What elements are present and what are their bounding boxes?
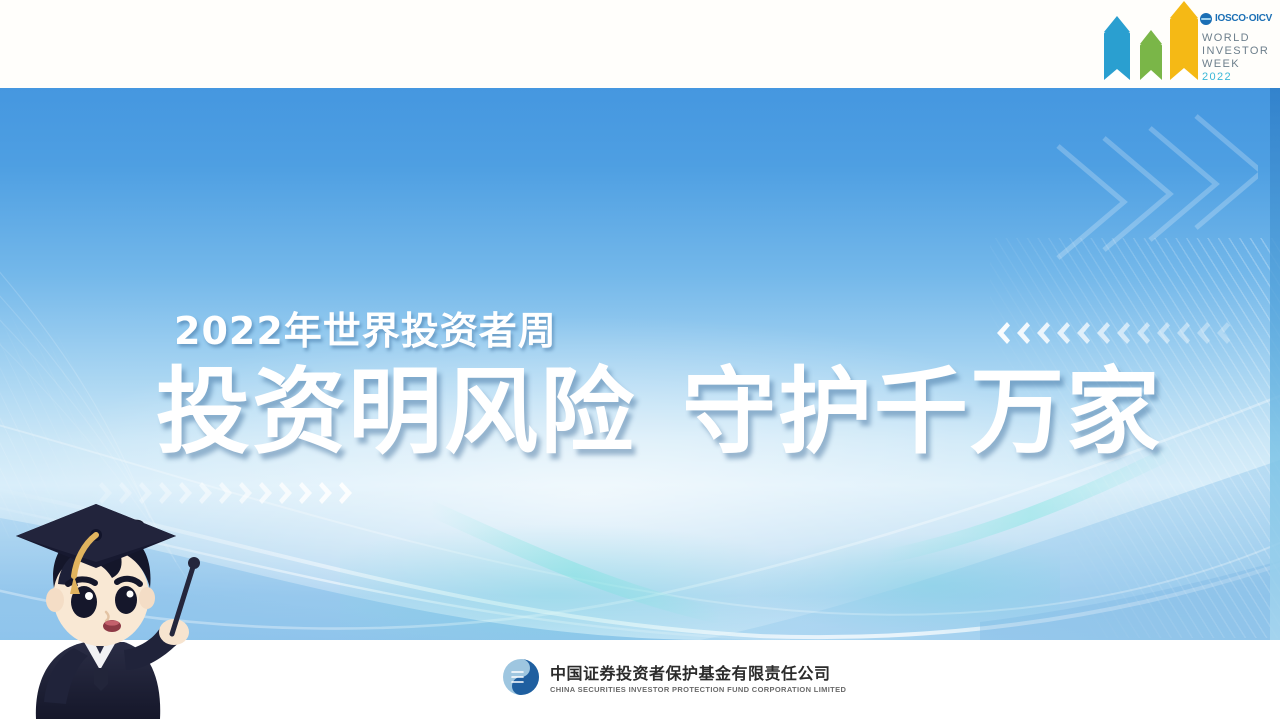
headline-part-2: 守护千万家	[682, 358, 1162, 467]
pencil-chevron-blue-icon	[1104, 69, 1130, 80]
banner-headline: 投资明风险守护千万家	[156, 364, 1162, 463]
sipf-emblem-icon	[501, 657, 541, 697]
world-investor-week-logo: IOSCO·OICV WORLD INVESTOR WEEK 2022	[1098, 4, 1268, 86]
chevron-left-icon	[1174, 320, 1191, 346]
chevron-left-icon	[1014, 320, 1031, 346]
globe-icon	[1200, 13, 1212, 25]
ghost-chevron-decoration	[1028, 98, 1258, 288]
right-edge-accent	[1270, 88, 1280, 640]
org-name-english: CHINA SECURITIES INVESTOR PROTECTION FUN…	[550, 685, 846, 694]
chevron-left-icon	[1094, 320, 1111, 346]
chevron-left-icon	[1194, 320, 1211, 346]
banner-subtitle: 2022年世界投资者周	[174, 300, 557, 355]
pencil-tip-yellow-icon	[1170, 1, 1198, 18]
chevron-left-icon	[1034, 320, 1051, 346]
pencil-chevron-yellow-icon	[1170, 68, 1198, 80]
chevron-left-icon	[1054, 320, 1071, 346]
chevron-right-icon	[218, 480, 235, 506]
wiw-wordmark: WORLD INVESTOR WEEK 2022	[1202, 32, 1269, 84]
chevron-left-icon	[1214, 320, 1231, 346]
chevron-left-icon	[994, 320, 1011, 346]
wiw-line-investor: INVESTOR	[1202, 45, 1269, 58]
chevron-left-icon	[1114, 320, 1131, 346]
wiw-year: 2022	[1202, 71, 1232, 83]
chevron-right-icon	[258, 480, 275, 506]
chevron-right-icon	[278, 480, 295, 506]
chevron-right-icon	[298, 480, 315, 506]
chevron-right-icon	[318, 480, 335, 506]
sipf-wordmark: 中国证券投资者保护基金有限责任公司 CHINA SECURITIES INVES…	[550, 660, 846, 694]
top-bar: IOSCO·OICV WORLD INVESTOR WEEK 2022	[0, 0, 1280, 88]
pencil-chevron-green-icon	[1140, 70, 1162, 80]
chevron-left-icon	[1134, 320, 1151, 346]
headline-part-1: 投资明风险	[156, 358, 636, 467]
chevron-right-icon	[238, 480, 255, 506]
wiw-line-week: WEEK 2022	[1202, 58, 1269, 84]
chevron-row-left-pointing	[994, 320, 1231, 346]
teal-accent-glow	[340, 518, 1060, 640]
pencil-tip-green-icon	[1140, 30, 1162, 44]
chevron-left-icon	[1154, 320, 1171, 346]
sipf-logo-block: 中国证券投资者保护基金有限责任公司 CHINA SECURITIES INVES…	[501, 657, 846, 697]
org-name-chinese: 中国证券投资者保护基金有限责任公司	[550, 660, 846, 684]
iosco-badge: IOSCO·OICV	[1200, 12, 1268, 25]
chevron-right-icon	[338, 480, 355, 506]
chevron-left-icon	[1074, 320, 1091, 346]
wiw-week-word: WEEK	[1202, 58, 1240, 70]
iosco-label: IOSCO·OICV	[1215, 13, 1272, 24]
mascot-graduate-character	[0, 492, 210, 719]
wiw-line-world: WORLD	[1202, 32, 1269, 45]
pencil-tip-blue-icon	[1104, 16, 1130, 32]
